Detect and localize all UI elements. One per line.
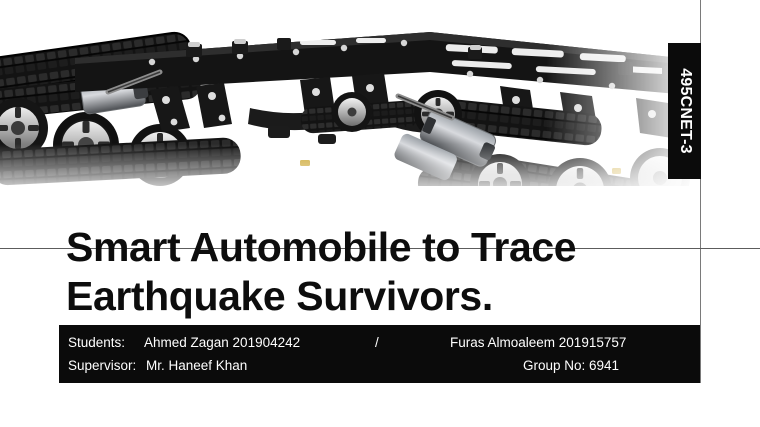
credits-info-bar: Students: Ahmed Zagan 201904242 / Furas …	[59, 325, 700, 383]
page-title: Smart Automobile to Trace Earthquake Sur…	[66, 223, 676, 321]
title-slide: 495CNET-3 Smart Automobile to Trace Eart…	[0, 0, 760, 427]
course-code-tag: 495CNET-3	[668, 43, 701, 179]
robot-chassis-illustration	[0, 0, 700, 200]
group-number: Group No: 6941	[523, 353, 619, 379]
title-line-1: Smart Automobile to Trace	[66, 223, 676, 272]
course-code-label: 495CNET-3	[676, 68, 694, 153]
supervisor-name: Mr. Haneef Khan	[146, 353, 247, 379]
title-line-2: Earthquake Survivors.	[66, 272, 676, 321]
robot-chassis-photo	[0, 0, 700, 200]
supervisor-label: Supervisor:	[68, 353, 136, 379]
supervisor-row: Supervisor: Mr. Haneef Khan Group No: 69…	[59, 353, 700, 379]
